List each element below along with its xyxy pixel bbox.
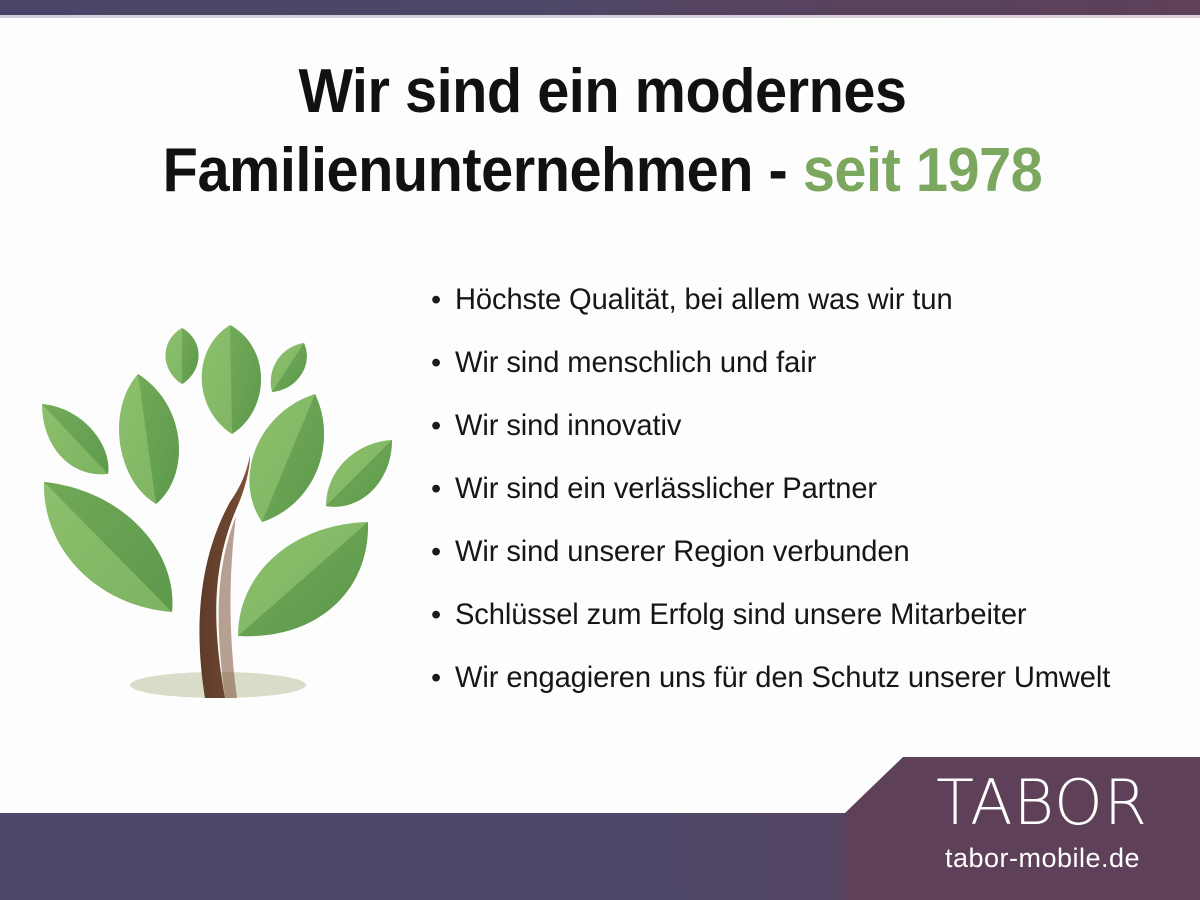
bullet-icon: • [428,349,455,378]
tree-leaf-upper-right [249,394,324,522]
list-item-label: Wir sind innovativ [455,409,681,443]
list-item-label: Wir sind menschlich und fair [455,346,816,380]
list-item: • Wir sind innovativ [428,409,1188,472]
bullet-icon: • [428,601,455,630]
bullet-icon: • [428,664,455,693]
list-item-label: Höchste Qualität, bei allem was wir tun [455,283,953,317]
top-accent-bar [0,0,1200,15]
page-title-line-2-prefix: Familienunternehmen - [163,136,803,205]
logo-wordmark-svg: TABOR [900,772,1185,834]
logo-wordmark: TABOR [900,772,1185,834]
tree-illustration-svg [20,300,420,720]
list-item-label: Wir sind ein verlässlicher Partner [455,472,877,506]
tree-leaf-right-mid [326,440,392,507]
page-title-accent: seit 1978 [803,136,1042,205]
page-title: Wir sind ein modernes Familienunternehme… [98,52,1107,211]
list-item-label: Wir engagieren uns für den Schutz unsere… [455,661,1110,695]
list-item: • Wir sind ein verlässlicher Partner [428,472,1188,535]
page-title-line-1: Wir sind ein modernes [98,52,1107,131]
tree-leaf-top-left-small [165,328,198,384]
list-item: • Wir engagieren uns für den Schutz unse… [428,661,1188,724]
list-item: • Wir sind unserer Region verbunden [428,535,1188,598]
logo-website: tabor-mobile.de [900,845,1185,872]
bullet-icon: • [428,286,455,315]
tree-illustration [20,300,420,720]
top-accent-bar-shadow [0,15,1200,18]
list-item-label: Schlüssel zum Erfolg sind unsere Mitarbe… [455,598,1027,632]
bullet-icon: • [428,475,455,504]
list-item: • Höchste Qualität, bei allem was wir tu… [428,283,1188,346]
value-list: • Höchste Qualität, bei allem was wir tu… [428,283,1188,724]
list-item: • Wir sind menschlich und fair [428,346,1188,409]
tree-leaf-left-mid [42,404,108,474]
tree-leaf-upper-left [119,374,179,504]
tree-leaf-lower-right [238,522,368,636]
bullet-icon: • [428,412,455,441]
logo-wordmark-text: TABOR [936,772,1148,834]
tree-leaf-top-center [202,325,261,434]
list-item: • Schlüssel zum Erfolg sind unsere Mitar… [428,598,1188,661]
list-item-label: Wir sind unserer Region verbunden [455,535,910,569]
page-title-line-2: Familienunternehmen - seit 1978 [98,131,1107,210]
slide-root: Wir sind ein modernes Familienunternehme… [0,0,1200,900]
bullet-icon: • [428,538,455,567]
tree-leaf-top-right-small [271,343,307,392]
